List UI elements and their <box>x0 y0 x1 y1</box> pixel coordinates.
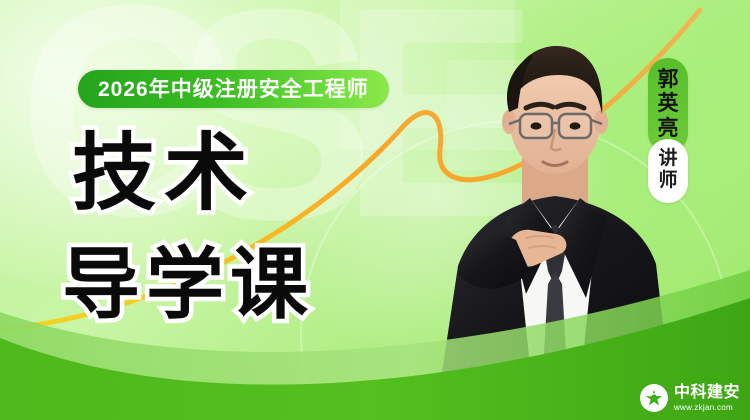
instructor-name-char-2: 英 <box>658 92 679 116</box>
instructor-role-char-1: 讲 <box>658 148 677 170</box>
zkjan-logo-icon <box>640 384 668 412</box>
brand-name: 中科建安 <box>674 385 740 401</box>
brand-url: www.zkjan.com <box>674 404 740 412</box>
instructor-role-pill: 讲 师 <box>648 139 688 203</box>
promo-banner-poster: C S E <box>0 0 750 420</box>
brand-logo[interactable]: 中科建安 www.zkjan.com <box>640 384 740 412</box>
brand-logo-text: 中科建安 www.zkjan.com <box>674 385 740 412</box>
bottom-wave-decoration <box>0 250 750 420</box>
instructor-name-char-3: 亮 <box>658 117 679 141</box>
course-exam-banner-label: 2026年中级注册安全工程师 <box>98 79 369 100</box>
instructor-role-char-2: 师 <box>658 170 677 192</box>
course-exam-banner: 2026年中级注册安全工程师 <box>78 70 389 108</box>
instructor-name-char-1: 郭 <box>658 68 679 92</box>
page-title: 技术 <box>72 131 256 215</box>
